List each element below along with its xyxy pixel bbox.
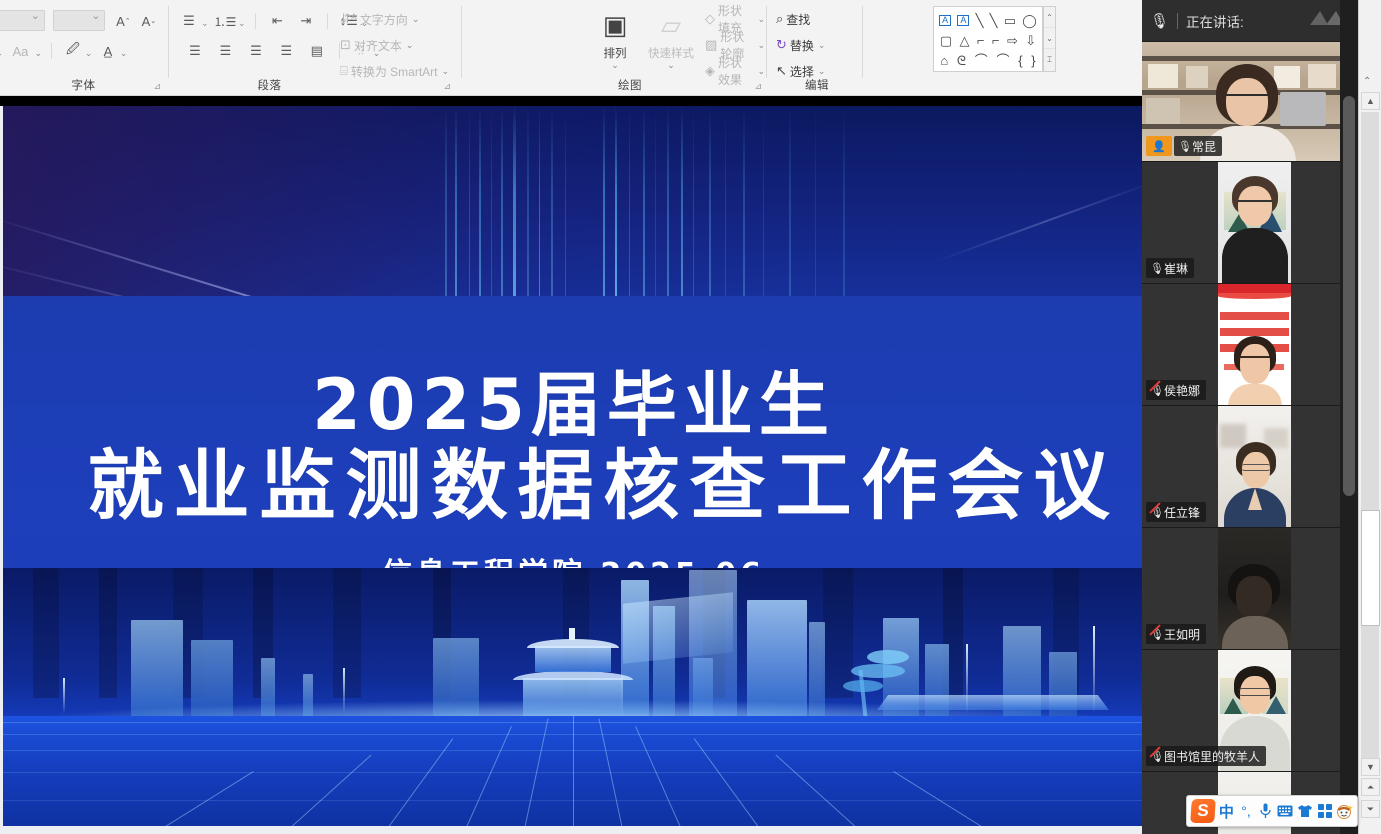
video-tile[interactable]: 🎙 崔琳 (1142, 162, 1358, 284)
shapes-row: A A ╲ ╲ ▭ ◯ (936, 10, 1040, 30)
participant-badge: 🎙 任立锋 (1146, 502, 1206, 522)
ribbon-group-editing-label: 编辑 (772, 77, 862, 93)
toolbox-icon[interactable] (1316, 800, 1333, 822)
slide-scrollbar[interactable]: ⌃ ▲ ▼ ⏶ ⏷ (1358, 0, 1381, 834)
participant-badge: 🎙 常昆 (1174, 136, 1222, 156)
slide-scroll-thumb[interactable] (1361, 510, 1380, 626)
line-arrow-shape-icon[interactable]: ╲ (990, 14, 998, 27)
shapes-scroll-down-icon[interactable]: ⌄ (1044, 28, 1055, 49)
search-icon: ⌕ (776, 11, 783, 27)
video-tile[interactable]: 🎙 任立锋 (1142, 406, 1358, 528)
increase-indent-icon[interactable]: ⇥ (294, 10, 318, 32)
drawing-dialog-launcher[interactable]: ⊿ (754, 81, 762, 92)
mic-on-icon: 🎙 (1150, 262, 1160, 275)
font-color-icon[interactable]: A̲ (97, 40, 119, 62)
mic-icon: 🎙 (1150, 12, 1169, 30)
align-text-button[interactable]: ⊡ 对齐文本 ⌄ (340, 34, 449, 56)
right-arrow-shape-icon[interactable]: ⇨ (1007, 34, 1018, 47)
slide-bottom-edge (3, 826, 1144, 834)
participant-name: 图书馆里的牧羊人 (1164, 748, 1260, 765)
down-arrow-shape-icon[interactable]: ⇩ (1025, 34, 1036, 47)
slide-canvas[interactable]: 2025届毕业生 就业监测数据核查工作会议 信息工程学院 2025.06 (3, 106, 1144, 834)
left-brace-shape-icon[interactable]: { (1018, 54, 1022, 67)
arc-shape-icon[interactable]: ⌒ (975, 54, 988, 67)
participant-badge: 🎙 图书馆里的牧羊人 (1146, 746, 1266, 766)
slide-sky-background (3, 106, 1144, 296)
scroll-down-arrow[interactable]: ▼ (1361, 758, 1380, 776)
triangle-shape-icon[interactable]: △ (959, 34, 969, 47)
folded-corner-shape-icon[interactable]: ⌂ (940, 54, 948, 67)
participant-badge: 🎙 侯艳娜 (1146, 380, 1206, 400)
align-left-icon[interactable]: ☰ (182, 40, 208, 62)
video-panel-scroll-thumb[interactable] (1343, 96, 1355, 496)
decrease-font-size-icon[interactable]: A⌄ (138, 10, 159, 32)
quick-styles-icon: ▱ (641, 5, 701, 45)
speaking-label: 正在讲话: (1186, 11, 1244, 31)
sogou-logo-icon[interactable]: S (1190, 799, 1216, 823)
arrange-icon: ▣ (589, 5, 641, 45)
curve-shape-icon[interactable]: ⌒ (996, 54, 1009, 67)
slide-title-line2: 就业监测数据核查工作会议 (88, 445, 1120, 527)
video-conference-panel: 🎙 正在讲话: (1142, 0, 1358, 834)
ribbon-group-paragraph-label: 段落 (127, 77, 412, 93)
participant-badge: 🎙 崔琳 (1146, 258, 1194, 278)
video-tile-active-speaker[interactable]: 👤 🎙 常昆 (1142, 42, 1358, 162)
participant-name: 王如明 (1164, 626, 1200, 643)
mic-muted-icon: 🎙 (1150, 384, 1160, 397)
find-button[interactable]: ⌕ 查找 (776, 8, 825, 30)
slide-city-illustration (3, 568, 1144, 834)
scroll-up-arrow[interactable]: ▲ (1361, 92, 1380, 110)
oval-shape-icon[interactable]: ◯ (1022, 14, 1037, 27)
video-feed (1218, 528, 1291, 650)
shapes-row: ⌂ ᘓ ⌒ ⌒ { } (936, 50, 1040, 70)
skin-icon[interactable] (1297, 800, 1314, 822)
soft-keyboard-icon[interactable] (1277, 800, 1294, 822)
perspective-grid-floor (3, 716, 1144, 834)
vertical-text-box-shape-icon[interactable]: A (957, 15, 969, 26)
shape-outline-button: ▨ 形状轮廓 ⌄ (705, 34, 765, 56)
mic-on-icon: 🎙 (1178, 140, 1188, 153)
rounded-rectangle-shape-icon[interactable]: ▢ (940, 34, 952, 47)
participant-name: 任立锋 (1164, 504, 1200, 521)
ribbon-group-drawing-label: 绘图 (530, 77, 730, 93)
text-highlight-color-icon[interactable]: 🖉 (62, 40, 84, 62)
rectangle-shape-icon[interactable]: ▭ (1004, 14, 1016, 27)
emoji-icon[interactable] (1336, 800, 1353, 822)
text-direction-icon: ⇵ᴬ (340, 11, 357, 27)
video-tile[interactable]: 🎙 王如明 (1142, 528, 1358, 650)
participant-name: 崔琳 (1164, 260, 1188, 277)
ribbon-group-editing: ⌕ 查找 ↻ 替换 ⌄ ↖ 选择 ⌄ 编辑 (772, 0, 862, 96)
font-name-combo[interactable] (0, 10, 45, 31)
shapes-gallery-scrollbar[interactable]: ⌃ ⌄ ⌶ (1043, 6, 1056, 72)
video-panel-scrollbar[interactable] (1340, 0, 1358, 834)
mic-muted-icon: 🎙 (1150, 506, 1160, 519)
previous-slide-button[interactable]: ⏶ (1361, 778, 1380, 796)
ribbon-toolbar: A⌃ A⌄ A✧ ab̶ AV⌄ Aa⌄ 🖉⌄ A̲⌄ 字体 ⊿ ☰⌄ ⒈☰⌄ (0, 0, 1142, 96)
sogou-ime-toolbar[interactable]: S 中 °, (1186, 795, 1358, 827)
scribble-shape-icon[interactable]: ᘓ (957, 54, 966, 67)
shapes-more-icon[interactable]: ⌶ (1044, 49, 1055, 70)
participant-name: 常昆 (1192, 138, 1216, 155)
decrease-indent-icon[interactable]: ⇤ (265, 10, 289, 32)
align-right-icon[interactable]: ☰ (243, 40, 269, 62)
participant-badge: 🎙 王如明 (1146, 624, 1206, 644)
ribbon-group-drawing: A A ╲ ╲ ▭ ◯ ▢ △ ⌐ ⌐ ⇨ ⇩ ⌂ ᘓ (465, 0, 765, 96)
align-center-icon[interactable]: ☰ (212, 40, 238, 62)
arrange-button[interactable]: ▣ 排列 ⌄ (589, 5, 641, 69)
voice-input-icon[interactable] (1257, 800, 1274, 822)
text-box-shape-icon[interactable]: A (939, 15, 951, 26)
chinese-mode-icon[interactable]: 中 (1218, 800, 1235, 822)
paragraph-dialog-launcher[interactable]: ⊿ (443, 81, 451, 92)
ribbon-group-paragraph: ☰⌄ ⒈☰⌄ ⇤ ⇥ ↕☰⌄ ☰ ☰ ☰ ☰ ▤ ⫶⫶⌄ ⇵ᴬ 文字方 (172, 0, 457, 96)
video-feed (1218, 284, 1291, 406)
app-window: A⌃ A⌄ A✧ ab̶ AV⌄ Aa⌄ 🖉⌄ A̲⌄ 字体 ⊿ ☰⌄ ⒈☰⌄ (0, 0, 1381, 834)
punctuation-icon[interactable]: °, (1238, 800, 1255, 822)
elbow-arrow-connector-shape-icon[interactable]: ⌐ (992, 34, 1000, 47)
video-feed (1218, 162, 1291, 284)
replace-icon: ↻ (776, 37, 787, 53)
collapse-ribbon-icon[interactable]: ⌃ (1363, 76, 1371, 87)
shapes-row: ▢ △ ⌐ ⌐ ⇨ ⇩ (936, 30, 1040, 50)
align-text-icon: ⊡ (340, 37, 351, 53)
video-feed (1218, 406, 1291, 528)
quick-styles-button: ▱ 快速样式 ⌄ (641, 5, 701, 69)
replace-button[interactable]: ↻ 替换 ⌄ (776, 34, 825, 56)
font-size-combo[interactable] (53, 10, 105, 31)
numbering-icon[interactable]: ⒈☰ (213, 10, 237, 32)
next-slide-button[interactable]: ⏷ (1361, 800, 1380, 818)
shapes-scroll-up-icon[interactable]: ⌃ (1044, 7, 1055, 28)
speaking-header: 🎙 正在讲话: (1142, 0, 1358, 42)
distribute-icon[interactable]: ▤ (304, 40, 330, 62)
right-brace-shape-icon[interactable]: } (1031, 54, 1035, 67)
participant-name: 侯艳娜 (1164, 382, 1200, 399)
line-shape-icon[interactable]: ╲ (976, 14, 984, 27)
text-direction-button[interactable]: ⇵ᴬ 文字方向 ⌄ (340, 8, 449, 30)
shape-fill-icon: ◇ (705, 11, 715, 27)
slide-title-line1: 2025届毕业生 (312, 369, 835, 443)
justify-icon[interactable]: ☰ (273, 40, 299, 62)
video-tile[interactable]: 🎙 侯艳娜 (1142, 284, 1358, 406)
mic-muted-icon: 🎙 (1150, 628, 1160, 641)
change-case-icon[interactable]: Aa (7, 40, 33, 62)
increase-font-size-icon[interactable]: A⌃ (113, 10, 134, 32)
elbow-connector-shape-icon[interactable]: ⌐ (977, 34, 985, 47)
mic-muted-icon: 🎙 (1150, 750, 1160, 763)
shapes-gallery[interactable]: A A ╲ ╲ ▭ ◯ ▢ △ ⌐ ⌐ ⇨ ⇩ ⌂ ᘓ (933, 6, 1043, 72)
host-badge-icon: 👤 (1146, 136, 1172, 156)
shape-outline-icon: ▨ (705, 37, 717, 53)
video-tile[interactable]: 🎙 图书馆里的牧羊人 (1142, 650, 1358, 772)
bullets-icon[interactable]: ☰ (178, 10, 200, 32)
shape-fill-button: ◇ 形状填充 ⌄ (705, 8, 765, 30)
